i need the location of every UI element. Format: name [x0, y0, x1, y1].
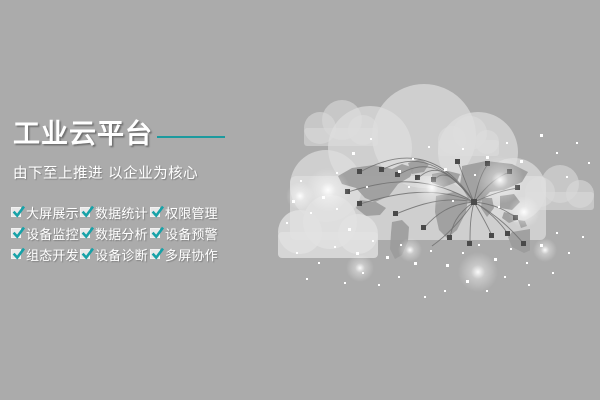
feature-label: 多屏协作 [165, 245, 218, 264]
feature-label: 数据统计 [95, 203, 148, 222]
page-subtitle: 由下至上推进 以企业为核心 [13, 162, 198, 183]
feature-label: 大屏展示 [26, 203, 79, 222]
feature-item: 组态开发 [11, 245, 80, 264]
feature-label: 权限管理 [165, 203, 218, 222]
check-icon [80, 227, 93, 240]
feature-item: 数据统计 [80, 203, 150, 222]
feature-item: 设备监控 [11, 224, 80, 243]
page-title: 工业云平台 [13, 118, 153, 152]
check-icon [11, 227, 24, 240]
feature-label: 设备诊断 [95, 245, 148, 264]
feature-label: 设备预警 [165, 224, 218, 243]
title-row: 工业云平台 [13, 118, 225, 152]
feature-label: 组态开发 [26, 245, 79, 264]
check-icon [150, 206, 163, 219]
feature-item: 权限管理 [150, 203, 218, 222]
hero-text-block: 工业云平台 由下至上推进 以企业为核心 大屏展示 数据统计 [0, 118, 260, 288]
feature-item: 多屏协作 [150, 245, 218, 264]
check-icon [11, 248, 24, 261]
feature-item: 设备预警 [150, 224, 218, 243]
feature-item: 大屏展示 [11, 203, 80, 222]
check-icon [80, 206, 93, 219]
feature-item: 设备诊断 [80, 245, 150, 264]
check-icon [150, 227, 163, 240]
feature-checklist: 大屏展示 数据统计 权限管理 [11, 202, 218, 265]
feature-label: 设备监控 [26, 224, 79, 243]
feature-label: 数据分析 [95, 224, 148, 243]
check-icon [80, 248, 93, 261]
title-underline-rule [157, 136, 225, 138]
check-icon [150, 248, 163, 261]
hero-banner: 工业云平台 由下至上推进 以企业为核心 大屏展示 数据统计 [0, 0, 600, 400]
check-icon [11, 206, 24, 219]
feature-item: 数据分析 [80, 224, 150, 243]
